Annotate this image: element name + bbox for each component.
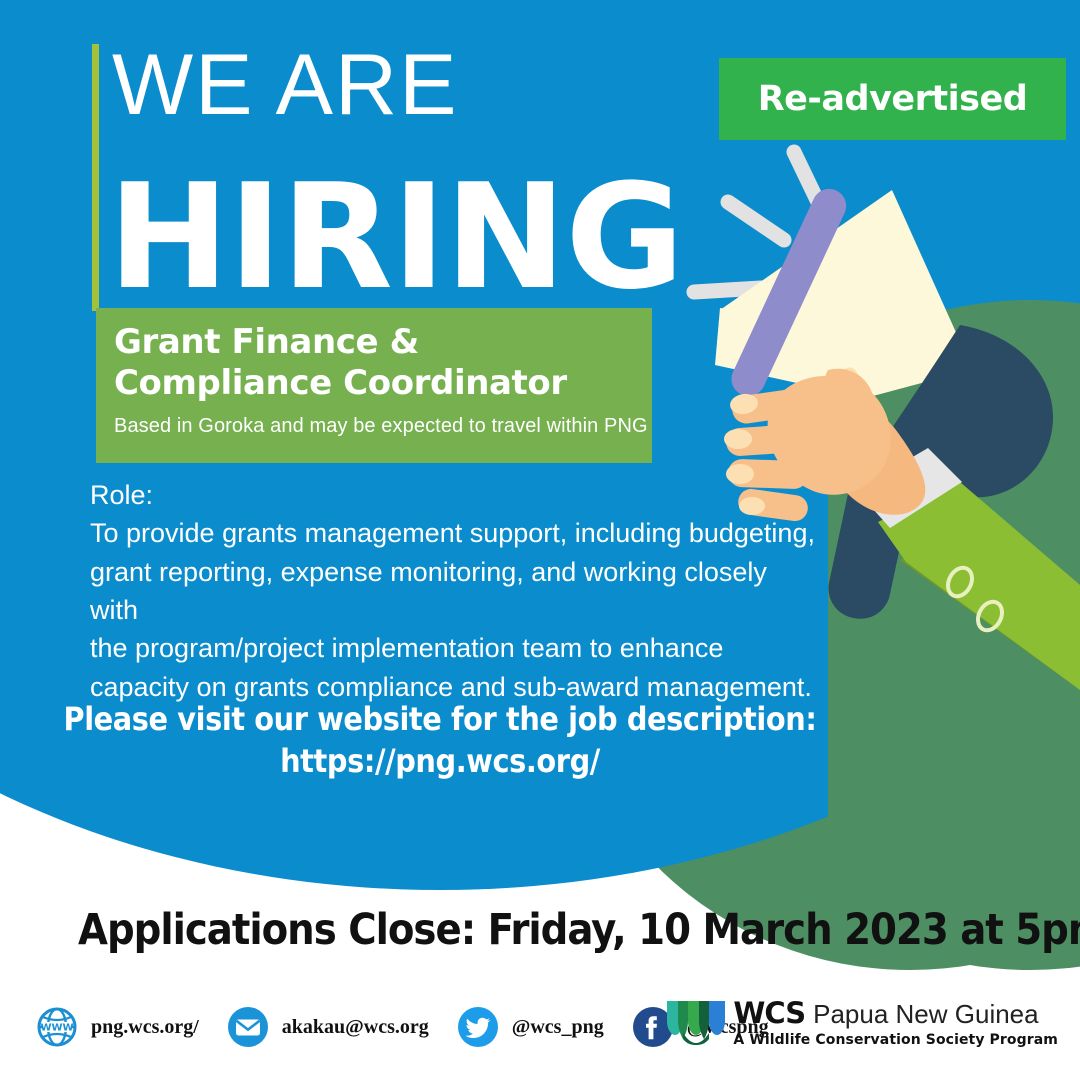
wcs-logo: WCS Papua New Guinea A Wildlife Conserva… — [665, 996, 1058, 1048]
role-line: the program/project implementation team … — [90, 629, 820, 667]
footer-label-website: png.wcs.org/ — [91, 1016, 199, 1039]
wcs-tagline: A Wildlife Conservation Society Program — [733, 1032, 1058, 1048]
job-title-line-1: Grant Finance & — [114, 322, 652, 363]
svg-text:WWW: WWW — [40, 1023, 73, 1034]
job-location-note: Based in Goroka and may be expected to t… — [114, 415, 652, 438]
role-line: grant reporting, expense monitoring, and… — [90, 553, 820, 630]
role-label: Role: — [90, 476, 820, 514]
application-deadline: Applications Close: Friday, 10 March 202… — [78, 905, 1080, 955]
job-title-line-2: Compliance Coordinator — [114, 363, 652, 404]
wcs-abbreviation: WCS — [733, 996, 805, 1030]
twitter-bird-icon — [457, 1006, 499, 1048]
role-line: To provide grants management support, in… — [90, 514, 820, 552]
wcs-country-name: Papua New Guinea — [813, 999, 1038, 1030]
wcs-logo-text: WCS Papua New Guinea A Wildlife Conserva… — [733, 996, 1058, 1048]
role-description-block: Role: To provide grants management suppo… — [90, 476, 820, 706]
hiring-poster: WE ARE HIRING Re-advertised — [0, 0, 1080, 1080]
footer-item-website[interactable]: WWW png.wcs.org/ — [36, 1006, 199, 1048]
heading-hiring: HIRING — [108, 165, 683, 310]
footer-label-twitter: @wcs_png — [512, 1016, 604, 1039]
job-title-box: Grant Finance & Compliance Coordinator B… — [96, 308, 652, 463]
footer-item-email[interactable]: akakau@wcs.org — [227, 1006, 429, 1048]
lime-accent-line — [92, 44, 99, 311]
wcs-three-leaf-w-icon — [665, 999, 727, 1045]
footer-label-email: akakau@wcs.org — [282, 1016, 429, 1039]
globe-www-icon: WWW — [36, 1006, 78, 1048]
website-cta-block: Please visit our website for the job des… — [0, 698, 880, 782]
email-envelope-icon — [227, 1006, 269, 1048]
heading-we-are: WE ARE — [112, 42, 459, 128]
website-url-link[interactable]: https://png.wcs.org/ — [0, 740, 880, 782]
footer-item-twitter[interactable]: @wcs_png — [457, 1006, 604, 1048]
re-advertised-badge: Re-advertised — [719, 58, 1066, 140]
cta-text: Please visit our website for the job des… — [0, 698, 880, 740]
re-advertised-badge-label: Re-advertised — [758, 79, 1028, 119]
